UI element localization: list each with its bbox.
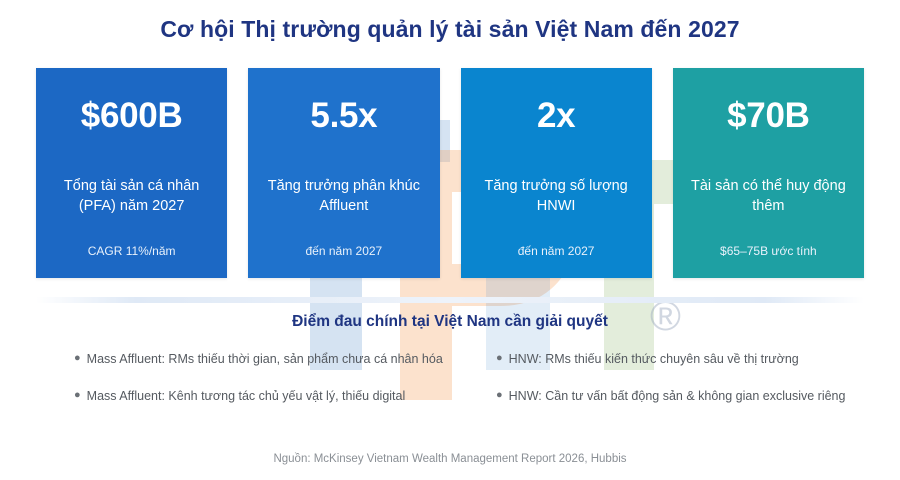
infographic-root: ® Cơ hội Thị trường quản lý tài sản Việt… (0, 0, 900, 480)
bullet-icon: ● (496, 387, 503, 404)
list-item-text: HNW: Cần tư vấn bất động sản & không gia… (509, 387, 874, 405)
stat-card-note: đến năm 2027 (518, 244, 595, 260)
list-item-text: Mass Affluent: Kênh tương tác chủ yếu vậ… (87, 387, 456, 405)
stat-card-label: Tổng tài sản cá nhân (PFA) năm 2027 (46, 177, 217, 216)
painpoints-heading: Điểm đau chính tại Việt Nam cần giải quy… (0, 313, 900, 331)
stat-card-label: Tăng trưởng số lượng HNWI (471, 177, 642, 216)
list-item: ● HNW: Cần tư vấn bất động sản & không g… (496, 387, 874, 405)
stat-card: $70B Tài sản có thể huy động thêm $65–75… (673, 68, 864, 278)
stat-card-value: 2x (537, 98, 575, 133)
painpoints-column-left: ● Mass Affluent: RMs thiếu thời gian, sả… (74, 350, 474, 438)
bullet-icon: ● (74, 350, 81, 367)
painpoints-section: ● Mass Affluent: RMs thiếu thời gian, sả… (74, 350, 874, 438)
stat-card: $600B Tổng tài sản cá nhân (PFA) năm 202… (36, 68, 227, 278)
stat-card-value: 5.5x (310, 98, 377, 133)
stat-card-value: $600B (81, 98, 183, 133)
bullet-icon: ● (496, 350, 503, 367)
stat-card-label: Tăng trưởng phân khúc Affluent (258, 177, 429, 216)
list-item: ● HNW: RMs thiếu kiến thức chuyên sâu về… (496, 350, 874, 368)
stat-card-note: CAGR 11%/năm (88, 244, 176, 260)
stat-card-label: Tài sản có thể huy động thêm (683, 177, 854, 216)
list-item-text: HNW: RMs thiếu kiến thức chuyên sâu về t… (509, 350, 874, 368)
source-note: Nguồn: McKinsey Vietnam Wealth Managemen… (0, 453, 900, 465)
stat-card-value: $70B (727, 98, 809, 133)
stat-card-row: $600B Tổng tài sản cá nhân (PFA) năm 202… (36, 68, 864, 278)
list-item-text: Mass Affluent: RMs thiếu thời gian, sản … (87, 350, 456, 368)
painpoints-column-right: ● HNW: RMs thiếu kiến thức chuyên sâu về… (474, 350, 874, 438)
bullet-icon: ● (74, 387, 81, 404)
section-divider (36, 297, 864, 303)
stat-card: 2x Tăng trưởng số lượng HNWI đến năm 202… (461, 68, 652, 278)
stat-card: 5.5x Tăng trưởng phân khúc Affluent đến … (248, 68, 439, 278)
stat-card-note: $65–75B ước tính (720, 244, 817, 260)
page-title: Cơ hội Thị trường quản lý tài sản Việt N… (0, 16, 900, 43)
list-item: ● Mass Affluent: RMs thiếu thời gian, sả… (74, 350, 456, 368)
stat-card-note: đến năm 2027 (306, 244, 383, 260)
list-item: ● Mass Affluent: Kênh tương tác chủ yếu … (74, 387, 456, 405)
